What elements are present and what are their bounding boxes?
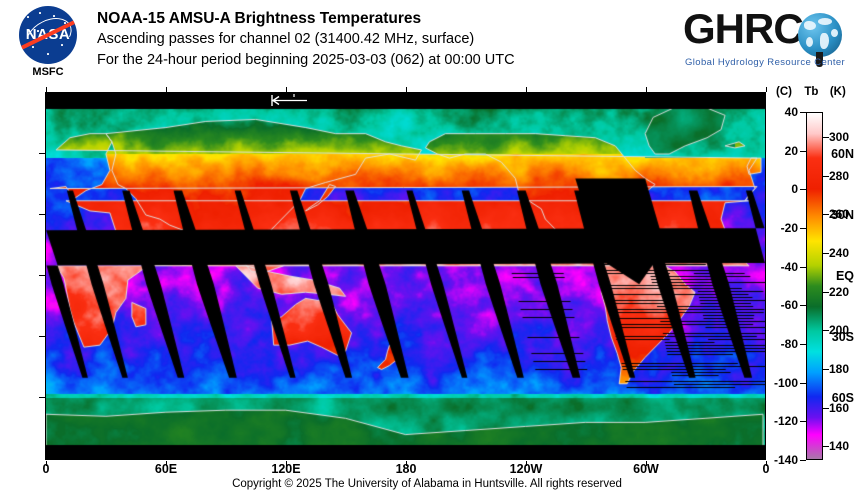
page-title: NOAA-15 AMSU-A Brightness Temperatures: [97, 9, 677, 29]
subtitle-channel: Ascending passes for channel 02 (31400.4…: [97, 29, 677, 50]
colorbar-celsius-label: -120: [764, 415, 798, 427]
colorbar-kelvin-label: 280: [829, 170, 849, 182]
colorbar-kelvin-label: 140: [829, 440, 849, 452]
colorbar-celsius-label: 20: [764, 145, 798, 157]
ghrc-logo: GHRC Global Hydrology Resource Center: [683, 5, 851, 73]
colorbar-kelvin-label: 300: [829, 131, 849, 143]
colorbar-header: (C) Tb (K): [776, 86, 854, 98]
colorbar-kelvin-label: 200: [829, 324, 849, 336]
colorbar-kelvin-tick: [823, 137, 829, 138]
colorbar-kelvin-tick: [823, 292, 829, 293]
colorbar-celsius-tick: [800, 112, 806, 113]
colorbar-kelvin-tick: [823, 369, 829, 370]
ghrc-wordmark: GHRC: [683, 5, 803, 53]
colorbar-celsius-tick: [800, 344, 806, 345]
copyright-notice: Copyright © 2025 The University of Alaba…: [0, 478, 854, 490]
colorbar-kelvin-label: 240: [829, 247, 849, 259]
colorbar-gradient: [807, 113, 822, 459]
header: NASA MSFC NOAA-15 AMSU-A Brightness Temp…: [0, 0, 854, 88]
colorbar-celsius-tick: [800, 189, 806, 190]
colorbar-celsius-tick: [800, 228, 806, 229]
colorbar-celsius-tick: [800, 151, 806, 152]
colorbar-celsius-label: -140: [764, 454, 798, 466]
colorbar-celsius-label: -60: [764, 299, 798, 311]
colorbar-kelvin-label: 260: [829, 208, 849, 220]
colorbar-kelvin-tick: [823, 214, 829, 215]
colorbar-celsius-label: -40: [764, 261, 798, 273]
swath-start-marker-icon: [269, 94, 309, 107]
colorbar-kelvin-tick: [823, 330, 829, 331]
colorbar-kelvin-tick: [823, 408, 829, 409]
colorbar-celsius-tick: [800, 460, 806, 461]
globe-icon: [798, 13, 842, 57]
colorbar-celsius-tick: [800, 421, 806, 422]
nasa-logo: NASA MSFC: [8, 4, 88, 82]
colorbar-kelvin-label: 220: [829, 286, 849, 298]
colorbar-celsius-tick: [800, 267, 806, 268]
colorbar-celsius-label: 0: [764, 183, 798, 195]
colorbar-title-tb: Tb: [804, 86, 818, 98]
colorbar-unit-kelvin: (K): [830, 86, 846, 98]
colorbar-celsius-label: 40: [764, 106, 798, 118]
nasa-insignia-icon: NASA: [19, 6, 77, 64]
colorbar-celsius-tick: [800, 383, 806, 384]
colorbar-unit-celsius: (C): [776, 86, 792, 98]
colorbar-celsius-tick: [800, 305, 806, 306]
ghrc-subtitle: Global Hydrology Resource Center: [685, 57, 845, 68]
colorbar[interactable]: [806, 112, 823, 460]
colorbar-celsius-label: -100: [764, 377, 798, 389]
colorbar-kelvin-label: 160: [829, 402, 849, 414]
colorbar-celsius-label: -20: [764, 222, 798, 234]
map-raster: [46, 93, 765, 459]
colorbar-kelvin-tick: [823, 253, 829, 254]
title-block: NOAA-15 AMSU-A Brightness Temperatures A…: [97, 9, 677, 71]
msfc-label: MSFC: [8, 66, 88, 78]
brightness-temperature-map[interactable]: [45, 92, 766, 460]
colorbar-celsius-label: -80: [764, 338, 798, 350]
colorbar-kelvin-tick: [823, 446, 829, 447]
subtitle-period: For the 24-hour period beginning 2025-03…: [97, 50, 677, 71]
colorbar-kelvin-tick: [823, 176, 829, 177]
colorbar-kelvin-label: 180: [829, 363, 849, 375]
